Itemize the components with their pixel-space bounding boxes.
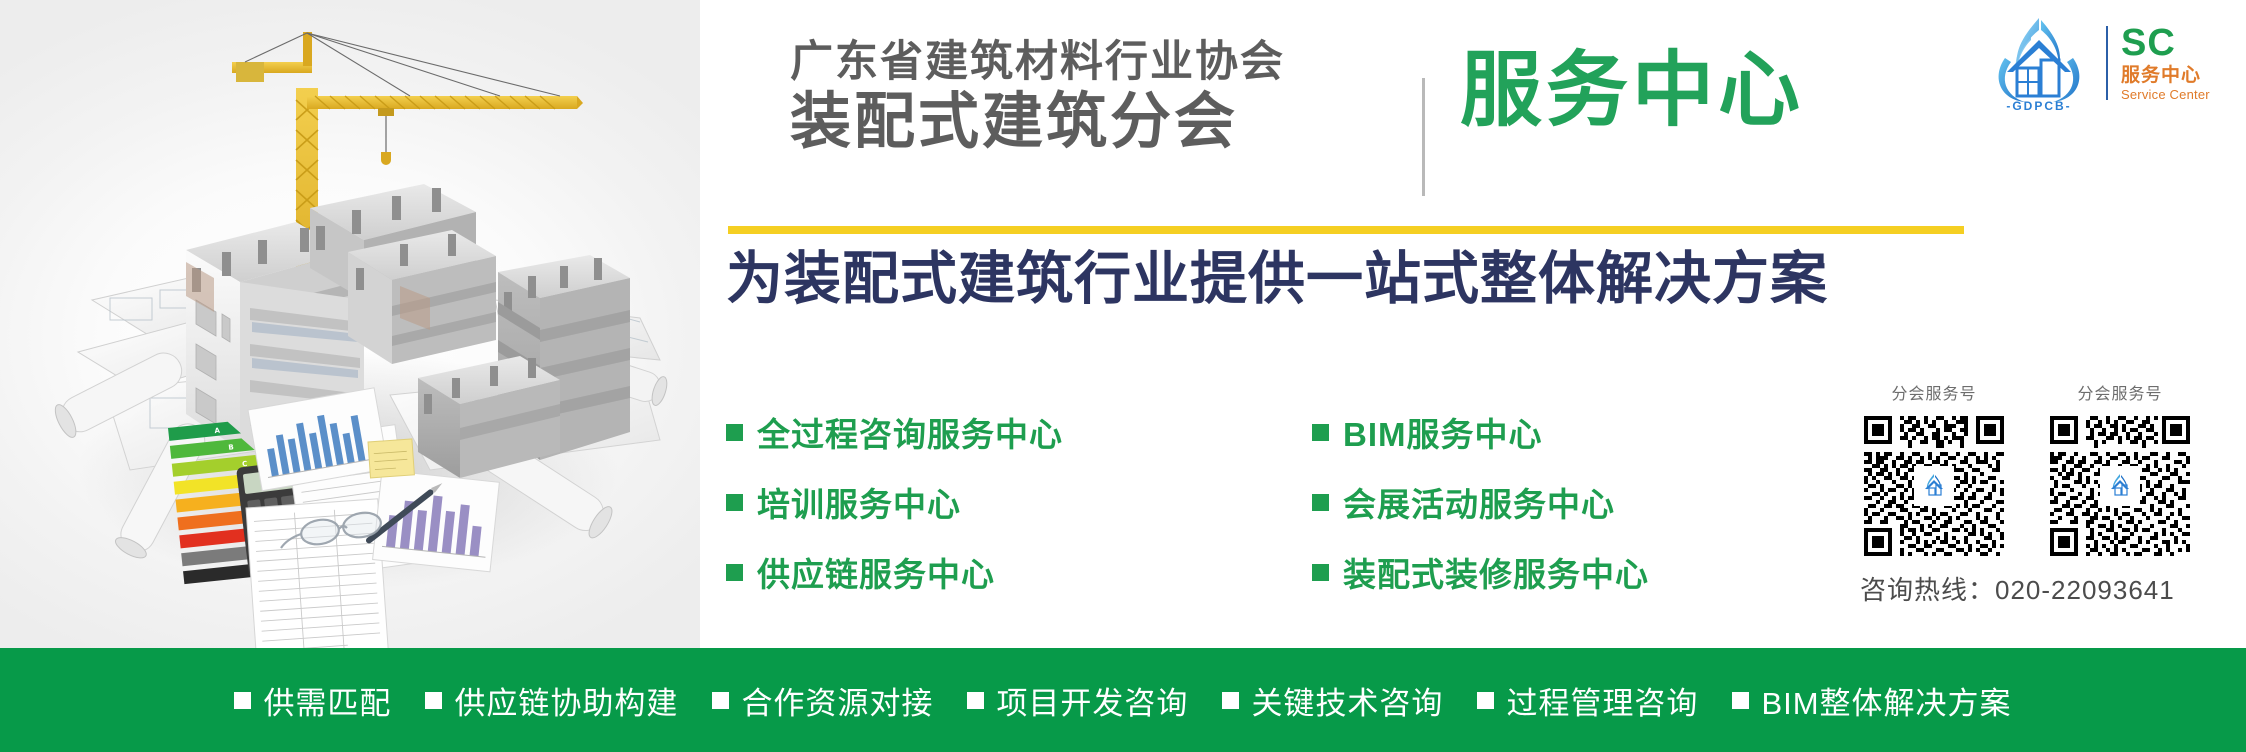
service-label: 会展活动服务中心 — [1343, 478, 1615, 526]
qr-contact-area: 分会服务号 — [1860, 380, 2230, 607]
hotline-text: 咨询热线：020-22093641 — [1860, 570, 2230, 607]
service-label: 装配式装修服务中心 — [1343, 548, 1649, 596]
service-center-title: 服务中心 — [1460, 50, 1804, 132]
bottom-bar-label: 项目开发咨询 — [996, 678, 1188, 723]
qr-label: 分会服务号 — [2046, 380, 2194, 404]
gdpcb-flame-house-icon: -GDPCB- — [1985, 14, 2093, 112]
gold-divider-rule — [728, 226, 1964, 234]
square-bullet-icon — [1222, 692, 1239, 709]
title-divider — [1422, 78, 1425, 196]
qr-label: 分会服务号 — [1860, 380, 2008, 404]
service-list-right: BIM服务中心 会展活动服务中心 装配式装修服务中心 — [1312, 408, 1649, 618]
bottom-bar-item[interactable]: 合作资源对接 — [712, 678, 933, 723]
bottom-bar-item[interactable]: 关键技术咨询 — [1222, 678, 1443, 723]
qr-cell[interactable]: 分会服务号 — [2046, 380, 2194, 560]
service-item[interactable]: 培训服务中心 — [726, 478, 1063, 526]
service-item[interactable]: 会展活动服务中心 — [1312, 478, 1649, 526]
bottom-bar-label: BIM整体解决方案 — [1761, 678, 2011, 723]
qr-code-image-2[interactable] — [2046, 412, 2194, 560]
square-bullet-icon — [1312, 564, 1329, 581]
logo-english-text: Service Center — [2121, 88, 2210, 102]
bottom-bar-item[interactable]: 项目开发咨询 — [967, 678, 1188, 723]
service-item[interactable]: 全过程咨询服务中心 — [726, 408, 1063, 456]
svg-text:B: B — [228, 443, 234, 452]
bottom-bar-item[interactable]: 过程管理咨询 — [1477, 678, 1698, 723]
service-label: BIM服务中心 — [1343, 408, 1543, 456]
qr-row: 分会服务号 — [1860, 380, 2230, 560]
bottom-bar-item[interactable]: 供需匹配 — [234, 678, 391, 723]
construction-illustration: ABC DEF GHI — [0, 0, 700, 650]
square-bullet-icon — [1312, 494, 1329, 511]
organization-title: 广东省建筑材料行业协会 装配式建筑分会 — [790, 40, 1430, 155]
service-item[interactable]: 供应链服务中心 — [726, 548, 1063, 596]
logo-caption: -GDPCB- — [1985, 99, 2093, 113]
square-bullet-icon — [726, 494, 743, 511]
org-name-line2: 装配式建筑分会 — [790, 89, 1430, 155]
square-bullet-icon — [234, 692, 251, 709]
bottom-bar-label: 供需匹配 — [263, 678, 391, 723]
square-bullet-icon — [1732, 692, 1749, 709]
square-bullet-icon — [425, 692, 442, 709]
bottom-bar-label: 合作资源对接 — [741, 678, 933, 723]
service-item[interactable]: 装配式装修服务中心 — [1312, 548, 1649, 596]
construction-photo: ABC DEF GHI — [0, 0, 700, 650]
square-bullet-icon — [712, 692, 729, 709]
service-label: 供应链服务中心 — [757, 548, 995, 596]
square-bullet-icon — [1312, 424, 1329, 441]
logo-chinese-text: 服务中心 — [2121, 65, 2210, 87]
qr-center-logo-icon — [1914, 466, 1954, 506]
qr-center-logo-icon — [2100, 466, 2140, 506]
bottom-bar-item[interactable]: BIM整体解决方案 — [1732, 678, 2011, 723]
square-bullet-icon — [726, 424, 743, 441]
qr-cell[interactable]: 分会服务号 — [1860, 380, 2008, 560]
logo-text-block: SC 服务中心 Service Center — [2121, 24, 2210, 102]
bottom-bar-label: 关键技术咨询 — [1251, 678, 1443, 723]
bottom-bar-label: 过程管理咨询 — [1506, 678, 1698, 723]
service-label: 培训服务中心 — [757, 478, 961, 526]
bottom-bar-label: 供应链协助构建 — [454, 678, 678, 723]
qr-code-image-1[interactable] — [1860, 412, 2008, 560]
bottom-bar-item[interactable]: 供应链协助构建 — [425, 678, 678, 723]
square-bullet-icon — [967, 692, 984, 709]
square-bullet-icon — [726, 564, 743, 581]
square-bullet-icon — [1477, 692, 1494, 709]
service-item[interactable]: BIM服务中心 — [1312, 408, 1649, 456]
logo-separator — [2106, 26, 2108, 100]
service-list-left: 全过程咨询服务中心 培训服务中心 供应链服务中心 — [726, 408, 1063, 618]
service-label: 全过程咨询服务中心 — [757, 408, 1063, 456]
gdpcb-sc-logo: -GDPCB- SC 服务中心 Service Center — [1985, 14, 2235, 112]
main-tagline: 为装配式建筑行业提供一站式整体解决方案 — [726, 248, 1828, 311]
banner-root: ABC DEF GHI — [0, 0, 2246, 752]
logo-sc-text: SC — [2121, 24, 2210, 62]
org-name-line1: 广东省建筑材料行业协会 — [790, 40, 1430, 85]
bottom-service-bar: 供需匹配 供应链协助构建 合作资源对接 项目开发咨询 关键技术咨询 过程管理咨询… — [0, 648, 2246, 752]
